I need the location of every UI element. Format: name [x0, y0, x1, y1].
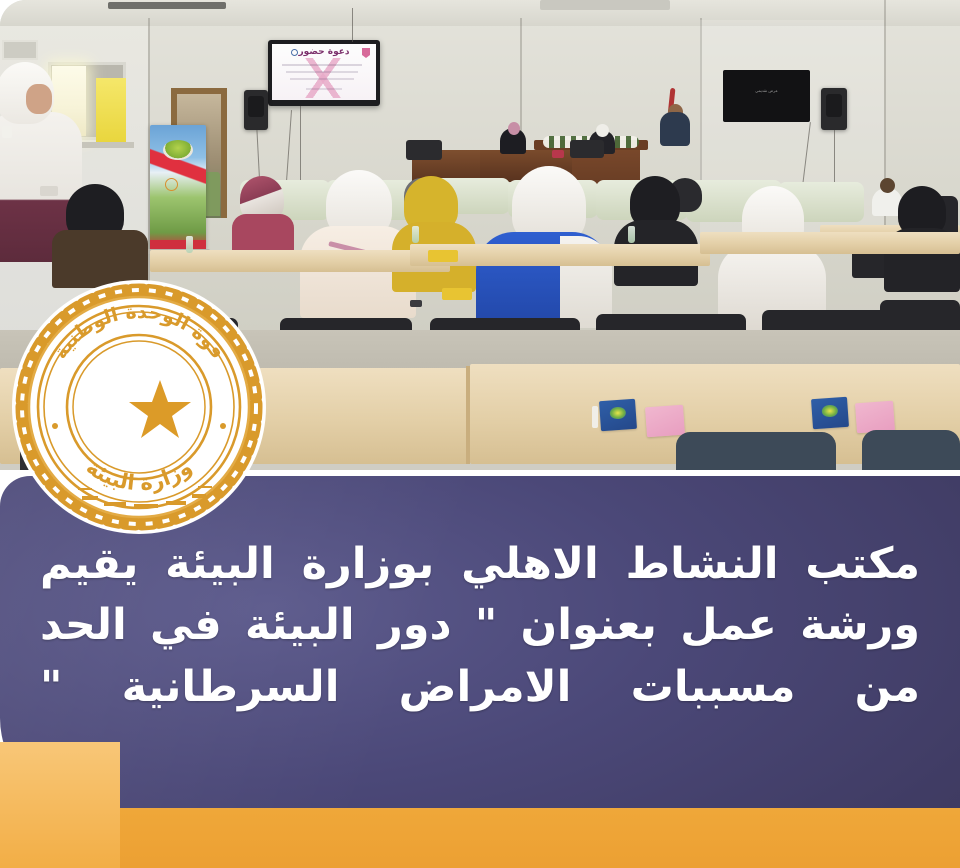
- poster-root: دعوة حضور عرض تقديمي: [0, 0, 960, 868]
- ceiling-panel: [540, 0, 670, 10]
- standing-presenter-face: [26, 84, 52, 114]
- blue-booklet: [811, 397, 849, 429]
- banner-produce-image: [163, 140, 193, 160]
- headline-line-3: من مسببات الامراض السرطانية ": [40, 657, 920, 718]
- pink-booklet: [645, 405, 685, 438]
- wall-tv-right: [723, 70, 810, 122]
- front-chair: [862, 430, 960, 470]
- water-bottle: [628, 226, 635, 243]
- front-chair: [676, 432, 836, 470]
- tv-right-text: عرض تقديمي: [723, 88, 810, 94]
- slide-text-line: [286, 71, 358, 73]
- wall-speaker-left: [244, 90, 268, 130]
- presenter-at-podium: [660, 112, 690, 146]
- blue-booklet: [599, 399, 637, 431]
- yellow-pack: [428, 250, 458, 262]
- attendee-head: [880, 178, 895, 193]
- table-item: [552, 150, 564, 158]
- tv-cable: [352, 8, 353, 42]
- audience-desk: [150, 250, 450, 272]
- water-bottle: [412, 226, 419, 243]
- wall-speaker-right: [821, 88, 847, 130]
- ministry-emblem: قوة الوحدة الوطنية وزارة البيئة: [8, 276, 270, 538]
- slide-title: دعوة حضور: [272, 47, 376, 57]
- ceiling-light-strip: [108, 2, 226, 9]
- head-table-chair: [570, 140, 604, 158]
- slide-badge-icon: [291, 49, 298, 56]
- mobile-phone: [410, 300, 422, 307]
- headline-line-2: ورشة عمل بعنوان " دور البيئة في الحد: [40, 595, 920, 656]
- head-table-chair: [406, 140, 442, 160]
- wall-vent: [2, 40, 38, 60]
- slide-text-line: [290, 78, 354, 80]
- desk-seam: [466, 366, 470, 464]
- headline-line-1: مكتب النشاط الاهلي بوزارة البيئة يقيم: [40, 534, 920, 595]
- water-bottle: [186, 236, 193, 253]
- slide-text-line: [282, 64, 362, 66]
- pen: [592, 406, 598, 428]
- held-paper: [40, 186, 58, 196]
- window-yellow-blind: [96, 78, 126, 142]
- yellow-pack: [442, 288, 472, 300]
- audience-desk: [700, 232, 960, 254]
- name-badge: [2, 126, 12, 138]
- head-table-person-head: [508, 122, 520, 135]
- banner-logo-icon: [165, 178, 178, 191]
- pink-booklet: [855, 401, 895, 434]
- speaker-cable: [834, 130, 835, 188]
- slide-signature-line: [306, 88, 342, 90]
- head-table-person-head: [596, 124, 609, 137]
